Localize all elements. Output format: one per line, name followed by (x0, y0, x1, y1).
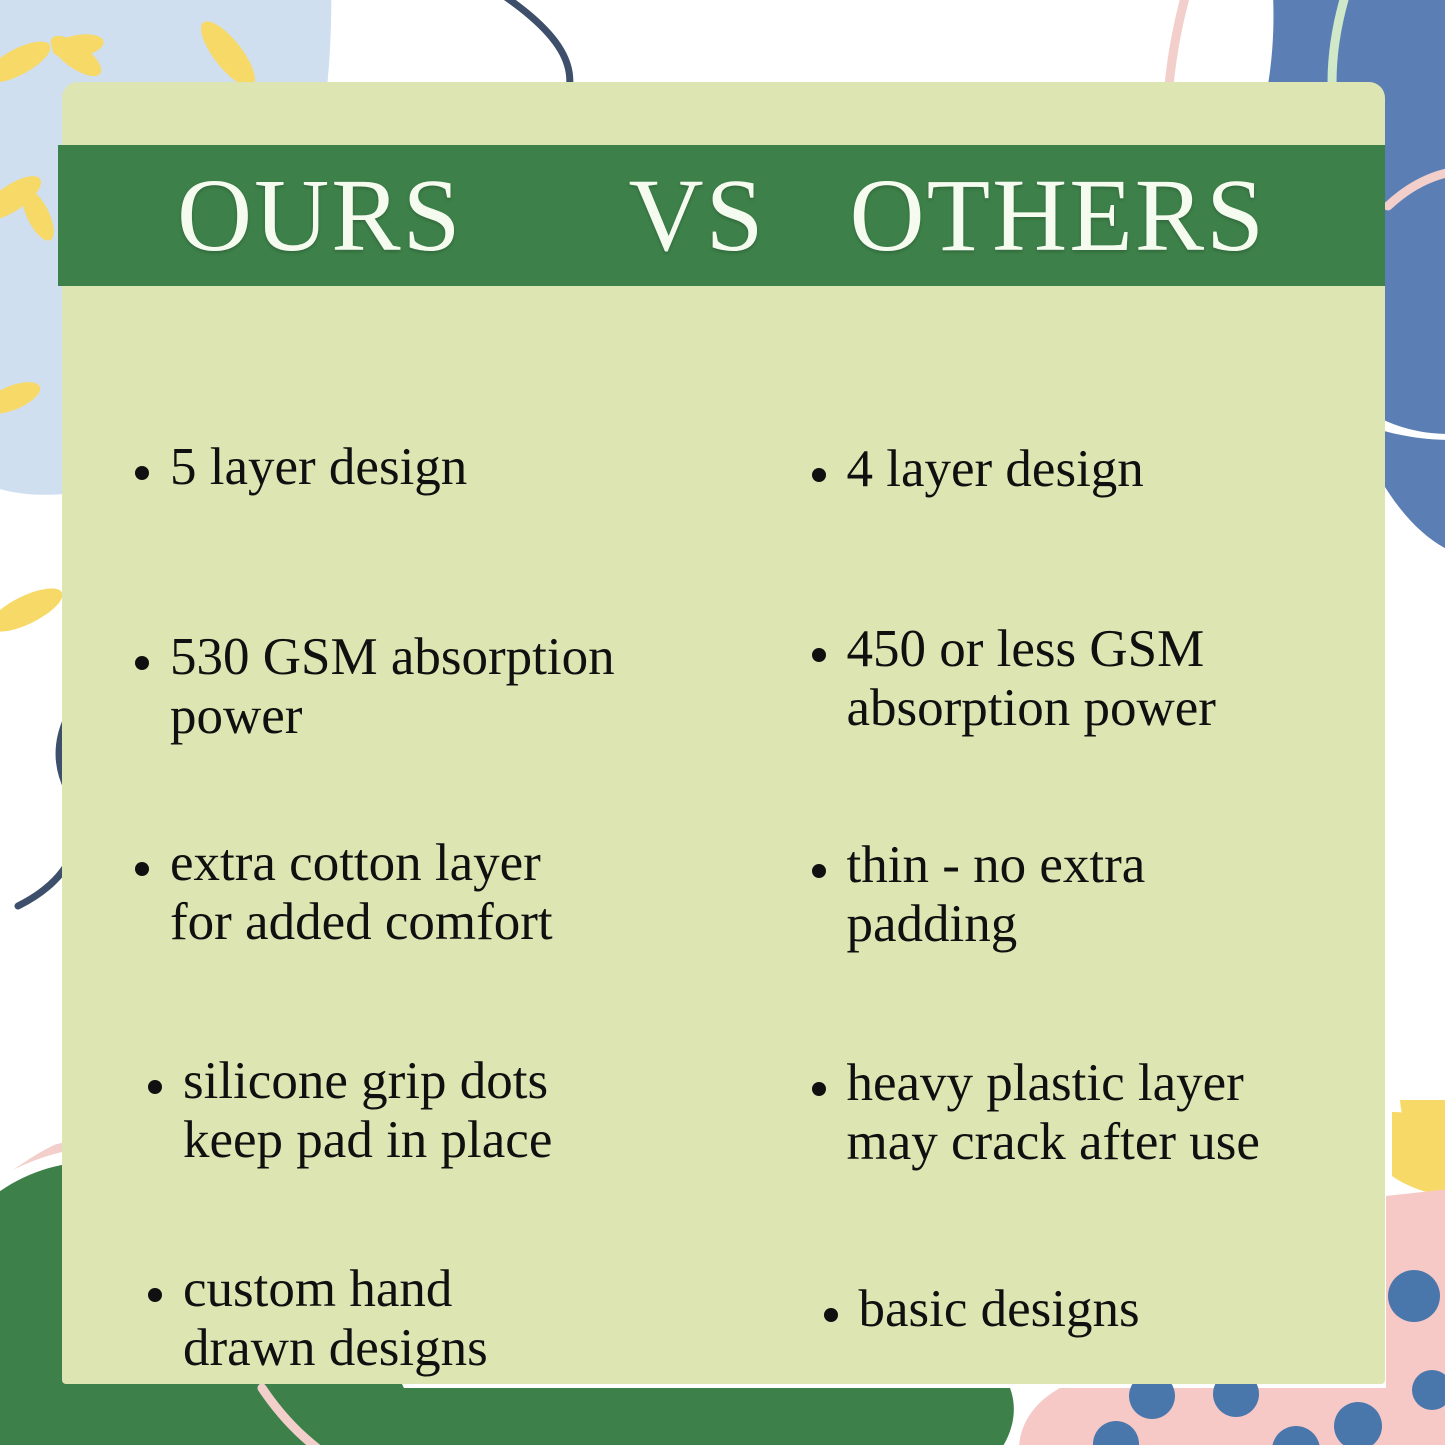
page-title: OURS VS OTHERS (177, 164, 1266, 268)
bullet-dot-icon (812, 1082, 826, 1096)
list-item: 4 layer design (812, 440, 1144, 499)
list-item-label: 450 or less GSM absorption power (847, 620, 1216, 739)
list-item: extra cotton layer for added comfort (135, 834, 553, 953)
bullet-dot-icon (135, 466, 149, 480)
list-item: silicone grip dots keep pad in place (148, 1052, 552, 1171)
bullet-dot-icon (812, 648, 826, 662)
list-item-label: basic designs (859, 1280, 1140, 1339)
list-item: 450 or less GSM absorption power (812, 620, 1216, 739)
list-item: thin - no extra padding (812, 836, 1146, 955)
list-item-label: 5 layer design (170, 438, 467, 497)
list-item-label: silicone grip dots keep pad in place (183, 1052, 552, 1171)
bullet-dot-icon (135, 862, 149, 876)
bullet-dot-icon (812, 468, 826, 482)
list-item-label: heavy plastic layer may crack after use (847, 1054, 1260, 1173)
list-item: custom hand drawn designs (148, 1260, 488, 1379)
list-item: 5 layer design (135, 438, 467, 497)
list-item-label: custom hand drawn designs (183, 1260, 488, 1379)
comparison-card: OURS VS OTHERS 5 layer design 530 GSM ab… (62, 82, 1385, 1384)
list-item-label: 4 layer design (847, 440, 1144, 499)
column-ours: 5 layer design 530 GSM absorption power … (62, 330, 724, 1384)
list-item-label: extra cotton layer for added comfort (170, 834, 553, 953)
header-banner: OURS VS OTHERS (58, 145, 1385, 286)
bullet-dot-icon (824, 1308, 838, 1322)
bullet-dot-icon (148, 1080, 162, 1094)
bullet-dot-icon (148, 1288, 162, 1302)
column-others: 4 layer design 450 or less GSM absorptio… (724, 330, 1386, 1384)
list-item: 530 GSM absorption power (135, 628, 615, 747)
bullet-dot-icon (812, 864, 826, 878)
list-item-label: 530 GSM absorption power (170, 628, 615, 747)
comparison-columns: 5 layer design 530 GSM absorption power … (62, 330, 1385, 1384)
list-item-label: thin - no extra padding (847, 836, 1146, 955)
blob-dark-green-bottom-center (317, 1388, 1014, 1445)
bullet-dot-icon (135, 656, 149, 670)
infographic-canvas: OURS VS OTHERS 5 layer design 530 GSM ab… (0, 0, 1445, 1445)
list-item: basic designs (824, 1280, 1140, 1339)
list-item: heavy plastic layer may crack after use (812, 1054, 1260, 1173)
